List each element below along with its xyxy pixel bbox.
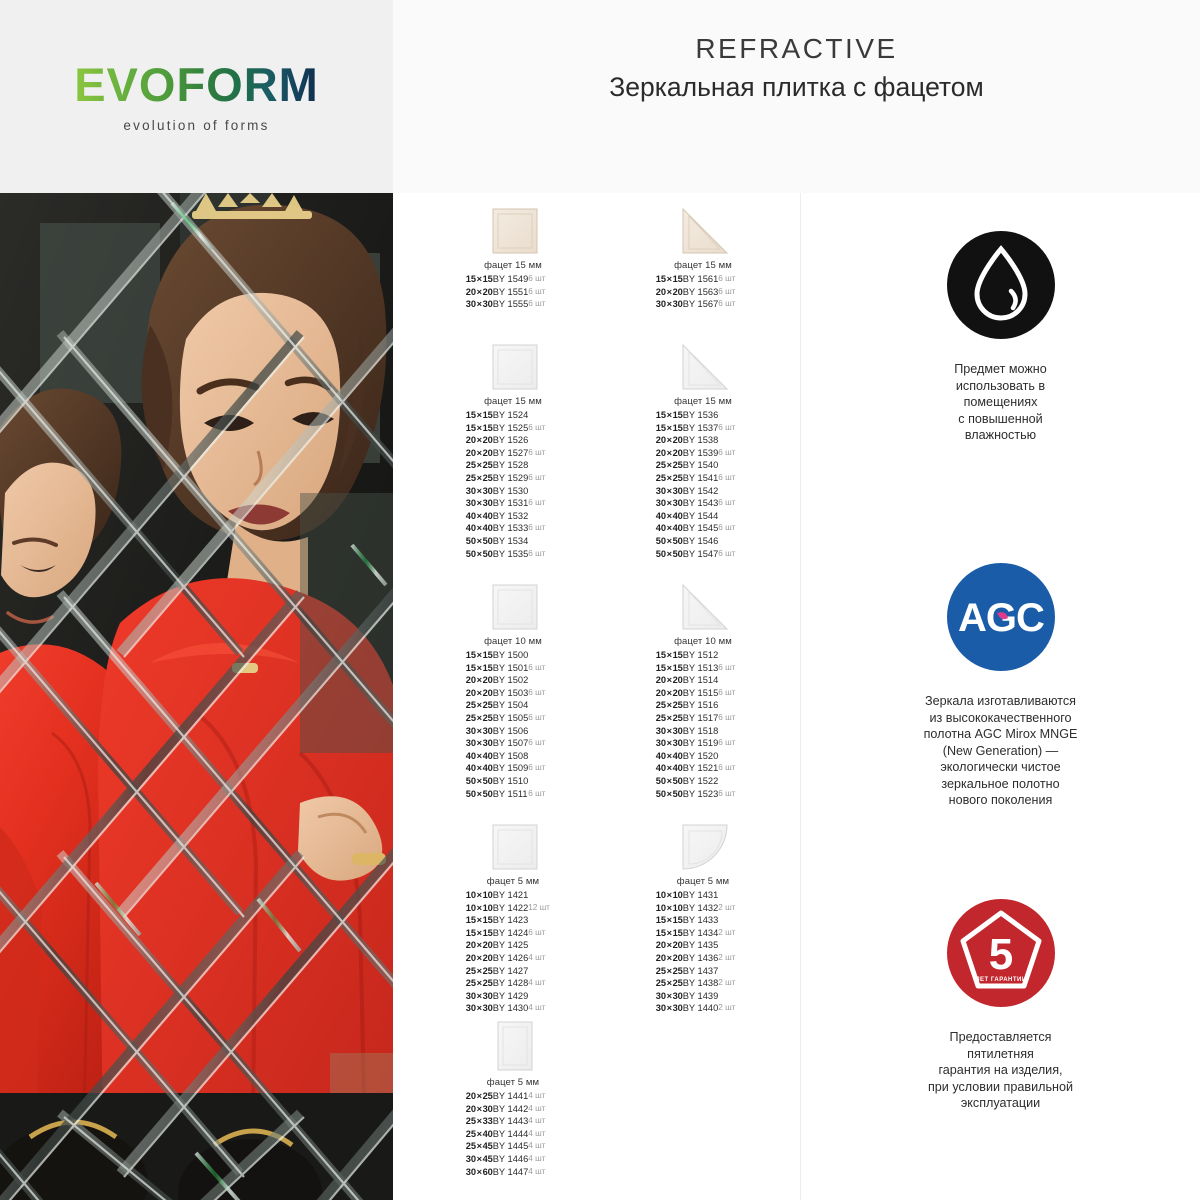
- table-row[interactable]: 25 × 25BY 15176 шт: [656, 712, 744, 725]
- table-row[interactable]: 25 × 25BY 1437: [656, 965, 744, 978]
- cell-size: 10 × 10: [466, 889, 493, 902]
- cell-code: BY 1505: [493, 712, 529, 725]
- table-row[interactable]: 30 × 30BY 1429: [466, 990, 554, 1003]
- table-row[interactable]: 30 × 30BY 1530: [466, 485, 554, 498]
- cell-code: BY 1531: [493, 497, 529, 510]
- cell-qty: 4 шт: [528, 952, 554, 965]
- product-column-beige-15mm-1: фацет 15 мм15 × 15BY 15616 шт20 × 20BY 1…: [605, 193, 795, 311]
- cell-qty: [718, 699, 744, 712]
- cell-code: BY 1428: [493, 977, 529, 990]
- cell-qty: 6 шт: [528, 522, 554, 535]
- table-row[interactable]: 20 × 20BY 1425: [466, 939, 554, 952]
- cell-code: BY 1439: [683, 990, 719, 1003]
- table-row[interactable]: 10 × 10BY 142212 шт: [466, 902, 554, 915]
- cell-size: 25 × 33: [466, 1115, 493, 1128]
- table-row[interactable]: 30 × 30BY 15076 шт: [466, 737, 554, 750]
- page-header: EVOFORM evolution of forms REFRACTIVE Зе…: [0, 0, 1200, 193]
- table-row[interactable]: 40 × 40BY 15336 шт: [466, 522, 554, 535]
- cell-qty: [718, 914, 744, 927]
- facet-label: фацет 5 мм: [415, 876, 605, 887]
- cell-qty: 6 шт: [528, 788, 554, 801]
- cell-qty: 6 шт: [528, 447, 554, 460]
- cell-qty: [528, 775, 554, 788]
- cell-qty: [718, 965, 744, 978]
- size-table: 15 × 15BY 152415 × 15BY 15256 шт20 × 20B…: [466, 409, 554, 560]
- cell-qty: 6 шт: [528, 687, 554, 700]
- cell-code: BY 1506: [493, 725, 529, 738]
- table-row[interactable]: 20 × 20BY 15396 шт: [656, 447, 744, 460]
- table-row[interactable]: 20 × 20BY 15516 шт: [466, 286, 554, 299]
- cell-code: BY 1425: [493, 939, 529, 952]
- cell-qty: 2 шт: [718, 927, 744, 940]
- cell-code: BY 1513: [683, 662, 719, 675]
- cell-size: 50 × 50: [466, 775, 493, 788]
- table-row[interactable]: 20 × 20BY 15036 шт: [466, 687, 554, 700]
- table-row[interactable]: 20 × 20BY 1435: [656, 939, 744, 952]
- table-row[interactable]: 20 × 20BY 1514: [656, 674, 744, 687]
- cell-code: BY 1551: [493, 286, 529, 299]
- cell-size: 50 × 50: [656, 548, 683, 561]
- facet-label: фацет 15 мм: [605, 396, 795, 407]
- cell-qty: 12 шт: [528, 902, 554, 915]
- table-row[interactable]: 25 × 25BY 1504: [466, 699, 554, 712]
- table-row[interactable]: 30 × 30BY 15196 шт: [656, 737, 744, 750]
- cell-qty: 2 шт: [718, 902, 744, 915]
- cell-code: BY 1508: [493, 750, 529, 763]
- table-row[interactable]: 25 × 25BY 1427: [466, 965, 554, 978]
- table-row[interactable]: 40 × 40BY 1532: [466, 510, 554, 523]
- table-row[interactable]: 15 × 15BY 15256 шт: [466, 422, 554, 435]
- cell-size: 10 × 10: [656, 902, 683, 915]
- cell-size: 20 × 20: [656, 952, 683, 965]
- cell-size: 20 × 20: [656, 939, 683, 952]
- table-row[interactable]: 50 × 50BY 15236 шт: [656, 788, 744, 801]
- table-row[interactable]: 30 × 30BY 1518: [656, 725, 744, 738]
- cell-code: BY 1500: [493, 649, 529, 662]
- cell-code: BY 1431: [683, 889, 719, 902]
- table-row[interactable]: 15 × 15BY 1512: [656, 649, 744, 662]
- table-row[interactable]: 15 × 15BY 1536: [656, 409, 744, 422]
- cell-code: BY 1532: [493, 510, 529, 523]
- rect-tile-silver: [415, 1010, 605, 1072]
- cell-code: BY 1512: [683, 649, 719, 662]
- table-row[interactable]: 25 × 33BY 14434 шт: [466, 1115, 554, 1128]
- table-row[interactable]: 10 × 10BY 1431: [656, 889, 744, 902]
- cell-code: BY 1546: [683, 535, 719, 548]
- table-row[interactable]: 40 × 40BY 15456 шт: [656, 522, 744, 535]
- table-row[interactable]: 15 × 15BY 15136 шт: [656, 662, 744, 675]
- cell-code: BY 1547: [683, 548, 719, 561]
- table-row[interactable]: 15 × 15BY 14342 шт: [656, 927, 744, 940]
- cell-qty: 6 шт: [528, 662, 554, 675]
- triangle-tile-silver: [605, 329, 795, 391]
- feature-moisture: Предмет можно использовать в помещениях …: [801, 231, 1200, 444]
- table-row[interactable]: 25 × 40BY 14444 шт: [466, 1128, 554, 1141]
- cell-size: 30 × 30: [466, 298, 493, 311]
- cell-qty: [528, 535, 554, 548]
- table-row[interactable]: 20 × 20BY 14264 шт: [466, 952, 554, 965]
- table-row[interactable]: 15 × 15BY 14246 шт: [466, 927, 554, 940]
- cell-code: BY 1445: [493, 1140, 529, 1153]
- table-row[interactable]: 50 × 50BY 1522: [656, 775, 744, 788]
- cell-size: 30 × 30: [466, 990, 493, 1003]
- size-table: 15 × 15BY 151215 × 15BY 15136 шт20 × 20B…: [656, 649, 744, 800]
- cell-size: 30 × 30: [656, 298, 683, 311]
- cell-qty: [528, 750, 554, 763]
- facet-label: фацет 10 мм: [415, 636, 605, 647]
- cell-qty: [718, 750, 744, 763]
- cell-qty: [718, 725, 744, 738]
- table-row[interactable]: 20 × 30BY 14424 шт: [466, 1103, 554, 1116]
- cell-qty: 6 шт: [528, 737, 554, 750]
- cell-qty: [718, 939, 744, 952]
- cell-code: BY 1429: [493, 990, 529, 1003]
- table-row[interactable]: 20 × 20BY 1502: [466, 674, 554, 687]
- feature-agc-text: Зеркала изготавливаются из высококачеств…: [801, 693, 1200, 809]
- cell-size: 15 × 15: [656, 649, 683, 662]
- table-row[interactable]: 30 × 30BY 15436 шт: [656, 497, 744, 510]
- cell-size: 30 × 30: [466, 497, 493, 510]
- square-tile-silver: [415, 329, 605, 391]
- cell-size: 40 × 40: [466, 750, 493, 763]
- size-table: 15 × 15BY 15496 шт20 × 20BY 15516 шт30 ×…: [466, 273, 554, 311]
- cell-qty: 6 шт: [528, 548, 554, 561]
- cell-qty: [718, 459, 744, 472]
- table-row[interactable]: 20 × 20BY 1538: [656, 434, 744, 447]
- cell-size: 20 × 20: [466, 447, 493, 460]
- cell-code: BY 1537: [683, 422, 719, 435]
- cell-size: 50 × 50: [466, 548, 493, 561]
- cell-size: 25 × 25: [656, 977, 683, 990]
- table-row[interactable]: 30 × 45BY 14464 шт: [466, 1153, 554, 1166]
- cell-qty: 6 шт: [718, 298, 744, 311]
- page-title-en: REFRACTIVE: [695, 31, 897, 66]
- facet-label: фацет 5 мм: [415, 1077, 605, 1088]
- table-row[interactable]: 10 × 10BY 14322 шт: [656, 902, 744, 915]
- cell-size: 20 × 20: [466, 687, 493, 700]
- cell-qty: [528, 459, 554, 472]
- product-column-silver-10mm-0: фацет 10 мм15 × 15BY 150015 × 15BY 15016…: [415, 569, 605, 800]
- table-row[interactable]: 50 × 50BY 15356 шт: [466, 548, 554, 561]
- cell-code: BY 1434: [683, 927, 719, 940]
- cell-code: BY 1501: [493, 662, 529, 675]
- cell-qty: [528, 939, 554, 952]
- cell-size: 30 × 30: [656, 497, 683, 510]
- cell-code: BY 1518: [683, 725, 719, 738]
- table-row[interactable]: 20 × 20BY 14362 шт: [656, 952, 744, 965]
- cell-size: 25 × 45: [466, 1140, 493, 1153]
- cell-code: BY 1526: [493, 434, 529, 447]
- cell-code: BY 1437: [683, 965, 719, 978]
- cell-qty: 6 шт: [718, 522, 744, 535]
- cell-qty: 6 шт: [718, 497, 744, 510]
- cell-size: 15 × 15: [656, 927, 683, 940]
- table-row[interactable]: 20 × 20BY 15156 шт: [656, 687, 744, 700]
- cell-size: 30 × 30: [656, 990, 683, 1003]
- cell-qty: 6 шт: [718, 273, 744, 286]
- cell-qty: [718, 510, 744, 523]
- cell-code: BY 1438: [683, 977, 719, 990]
- table-row[interactable]: 50 × 50BY 1510: [466, 775, 554, 788]
- cell-code: BY 1435: [683, 939, 719, 952]
- cell-code: BY 1509: [493, 762, 529, 775]
- cell-code: BY 1524: [493, 409, 529, 422]
- table-row[interactable]: 30 × 30BY 15676 шт: [656, 298, 744, 311]
- table-row[interactable]: 50 × 50BY 1534: [466, 535, 554, 548]
- table-row[interactable]: 30 × 30BY 1506: [466, 725, 554, 738]
- cell-code: BY 1538: [683, 434, 719, 447]
- cell-qty: 6 шт: [718, 662, 744, 675]
- cell-size: 25 × 25: [656, 712, 683, 725]
- cell-code: BY 1440: [683, 1002, 719, 1015]
- cell-size: 15 × 15: [466, 273, 493, 286]
- cell-size: 15 × 15: [466, 662, 493, 675]
- cell-code: BY 1527: [493, 447, 529, 460]
- cell-size: 25 × 25: [656, 965, 683, 978]
- cell-code: BY 1515: [683, 687, 719, 700]
- cell-code: BY 1507: [493, 737, 529, 750]
- cell-qty: 6 шт: [718, 286, 744, 299]
- cell-code: BY 1443: [493, 1115, 529, 1128]
- cell-code: BY 1535: [493, 548, 529, 561]
- product-column-silver-10mm-1: фацет 10 мм15 × 15BY 151215 × 15BY 15136…: [605, 569, 795, 800]
- cell-qty: 4 шт: [528, 1128, 554, 1141]
- cell-qty: [718, 674, 744, 687]
- cell-size: 25 × 25: [466, 699, 493, 712]
- size-table: 15 × 15BY 150015 × 15BY 15016 шт20 × 20B…: [466, 649, 554, 800]
- cell-code: BY 1561: [683, 273, 719, 286]
- cell-code: BY 1424: [493, 927, 529, 940]
- cell-qty: [528, 990, 554, 1003]
- cell-code: BY 1520: [683, 750, 719, 763]
- cell-qty: 6 шт: [528, 712, 554, 725]
- cell-size: 30 × 30: [466, 485, 493, 498]
- feature-warranty: 5 ЛЕТ ГАРАНТИИ Предоставляется пятилетня…: [801, 899, 1200, 1112]
- cell-code: BY 1503: [493, 687, 529, 700]
- table-row[interactable]: 15 × 15BY 15616 шт: [656, 273, 744, 286]
- table-row[interactable]: 50 × 50BY 1546: [656, 535, 744, 548]
- cell-size: 15 × 15: [656, 422, 683, 435]
- cell-size: 30 × 30: [656, 737, 683, 750]
- cell-qty: [718, 775, 744, 788]
- hero-photo-illustration: [0, 193, 393, 1200]
- cell-size: 20 × 20: [656, 434, 683, 447]
- table-row[interactable]: 25 × 25BY 14284 шт: [466, 977, 554, 990]
- cell-qty: 2 шт: [718, 977, 744, 990]
- cell-size: 50 × 50: [466, 788, 493, 801]
- table-row[interactable]: 30 × 30BY 15556 шт: [466, 298, 554, 311]
- cell-size: 15 × 15: [656, 273, 683, 286]
- cell-code: BY 1504: [493, 699, 529, 712]
- cell-size: 20 × 20: [656, 674, 683, 687]
- table-row[interactable]: 50 × 50BY 15476 шт: [656, 548, 744, 561]
- agc-logo-icon: AGC: [801, 563, 1200, 671]
- cell-qty: 4 шт: [528, 1115, 554, 1128]
- cell-qty: [528, 699, 554, 712]
- table-row[interactable]: 15 × 15BY 15376 шт: [656, 422, 744, 435]
- cell-code: BY 1525: [493, 422, 529, 435]
- square-tile-silver: [415, 569, 605, 631]
- cell-code: BY 1542: [683, 485, 719, 498]
- size-table: 10 × 10BY 143110 × 10BY 14322 шт15 × 15B…: [656, 889, 744, 1015]
- cell-code: BY 1522: [683, 775, 719, 788]
- cell-code: BY 1549: [493, 273, 529, 286]
- cell-size: 25 × 25: [656, 459, 683, 472]
- table-row[interactable]: 25 × 25BY 1516: [656, 699, 744, 712]
- brand-tagline: evolution of forms: [123, 118, 269, 133]
- table-row[interactable]: 15 × 15BY 1423: [466, 914, 554, 927]
- cell-code: BY 1540: [683, 459, 719, 472]
- table-row[interactable]: 15 × 15BY 15496 шт: [466, 273, 554, 286]
- table-row[interactable]: 40 × 40BY 15216 шт: [656, 762, 744, 775]
- table-row[interactable]: 40 × 40BY 1544: [656, 510, 744, 523]
- facet-label: фацет 5 мм: [605, 876, 795, 887]
- table-row[interactable]: 25 × 45BY 14454 шт: [466, 1140, 554, 1153]
- triangle-tile-beige: [605, 193, 795, 255]
- cell-size: 20 × 30: [466, 1103, 493, 1116]
- cell-qty: 6 шт: [528, 422, 554, 435]
- cell-code: BY 1427: [493, 965, 529, 978]
- table-row[interactable]: 40 × 40BY 1520: [656, 750, 744, 763]
- cell-size: 25 × 25: [656, 472, 683, 485]
- cell-code: BY 1555: [493, 298, 529, 311]
- product-column-silver-15mm-1: фацет 15 мм15 × 15BY 153615 × 15BY 15376…: [605, 329, 795, 560]
- table-row[interactable]: 15 × 15BY 1524: [466, 409, 554, 422]
- cell-qty: [528, 674, 554, 687]
- cell-code: BY 1534: [493, 535, 529, 548]
- cell-qty: 4 шт: [528, 977, 554, 990]
- table-row[interactable]: 40 × 40BY 1508: [466, 750, 554, 763]
- cell-qty: 6 шт: [718, 762, 744, 775]
- cell-qty: 2 шт: [718, 1002, 744, 1015]
- cell-qty: 4 шт: [528, 1166, 554, 1179]
- cell-qty: [718, 485, 744, 498]
- product-column-silver-5mm-0: фацет 5 мм10 × 10BY 142110 × 10BY 142212…: [415, 809, 605, 1015]
- table-row[interactable]: 25 × 25BY 1528: [466, 459, 554, 472]
- cell-code: BY 1539: [683, 447, 719, 460]
- product-column-silver-15mm-0: фацет 15 мм15 × 15BY 152415 × 15BY 15256…: [415, 329, 605, 560]
- cell-size: 20 × 20: [656, 286, 683, 299]
- facet-label: фацет 15 мм: [415, 260, 605, 271]
- cell-size: 25 × 40: [466, 1128, 493, 1141]
- facet-label: фацет 15 мм: [415, 396, 605, 407]
- cell-code: BY 1444: [493, 1128, 529, 1141]
- table-row[interactable]: 15 × 15BY 15016 шт: [466, 662, 554, 675]
- table-row[interactable]: 15 × 15BY 1500: [466, 649, 554, 662]
- cell-code: BY 1510: [493, 775, 529, 788]
- cell-size: 15 × 15: [466, 927, 493, 940]
- quarter-circle-tile-silver: [605, 809, 795, 871]
- cell-qty: 4 шт: [528, 1103, 554, 1116]
- cell-code: BY 1442: [493, 1103, 529, 1116]
- square-tile-silver: [415, 809, 605, 871]
- cell-size: 15 × 15: [656, 914, 683, 927]
- table-row[interactable]: 30 × 30BY 14402 шт: [656, 1002, 744, 1015]
- cell-size: 15 × 15: [466, 409, 493, 422]
- size-table: 15 × 15BY 153615 × 15BY 15376 шт20 × 20B…: [656, 409, 744, 560]
- table-row[interactable]: 20 × 20BY 1526: [466, 434, 554, 447]
- hero-photo: [0, 193, 393, 1200]
- cell-code: BY 1544: [683, 510, 719, 523]
- feature-moisture-text: Предмет можно использовать в помещениях …: [801, 361, 1200, 444]
- cell-qty: [528, 510, 554, 523]
- table-row[interactable]: 25 × 25BY 14382 шт: [656, 977, 744, 990]
- cell-size: 15 × 15: [466, 649, 493, 662]
- size-table: 15 × 15BY 15616 шт20 × 20BY 15636 шт30 ×…: [656, 273, 744, 311]
- svg-text:ЛЕТ ГАРАНТИИ: ЛЕТ ГАРАНТИИ: [975, 977, 1026, 983]
- cell-code: BY 1545: [683, 522, 719, 535]
- cell-qty: 4 шт: [528, 1090, 554, 1103]
- cell-qty: 6 шт: [718, 422, 744, 435]
- cell-size: 50 × 50: [466, 535, 493, 548]
- cell-code: BY 1511: [493, 788, 529, 801]
- cell-code: BY 1523: [683, 788, 719, 801]
- cell-size: 40 × 40: [466, 762, 493, 775]
- cell-size: 10 × 10: [466, 902, 493, 915]
- cell-qty: [718, 889, 744, 902]
- table-row[interactable]: 20 × 20BY 15636 шт: [656, 286, 744, 299]
- cell-qty: 6 шт: [718, 472, 744, 485]
- triangle-tile-silver: [605, 569, 795, 631]
- table-row[interactable]: 25 × 25BY 15416 шт: [656, 472, 744, 485]
- cell-size: 25 × 25: [656, 699, 683, 712]
- product-column-silver-5mm-rect-0: фацет 5 мм20 × 25BY 14414 шт20 × 30BY 14…: [415, 1010, 605, 1178]
- cell-code: BY 1514: [683, 674, 719, 687]
- cell-qty: 6 шт: [528, 472, 554, 485]
- water-drop-icon: [801, 231, 1200, 339]
- table-row[interactable]: 40 × 40BY 15096 шт: [466, 762, 554, 775]
- cell-size: 25 × 25: [466, 472, 493, 485]
- table-row[interactable]: 25 × 25BY 15056 шт: [466, 712, 554, 725]
- cell-size: 30 × 30: [656, 725, 683, 738]
- cell-size: 40 × 40: [466, 510, 493, 523]
- cell-code: BY 1422: [493, 902, 529, 915]
- cell-size: 15 × 15: [466, 422, 493, 435]
- svg-text:5: 5: [988, 930, 1012, 979]
- cell-size: 15 × 15: [656, 662, 683, 675]
- table-row[interactable]: 30 × 60BY 14474 шт: [466, 1166, 554, 1179]
- table-row[interactable]: 25 × 25BY 1540: [656, 459, 744, 472]
- cell-code: BY 1516: [683, 699, 719, 712]
- cell-qty: 2 шт: [718, 952, 744, 965]
- cell-qty: [528, 409, 554, 422]
- table-row[interactable]: 20 × 20BY 15276 шт: [466, 447, 554, 460]
- cell-qty: 6 шт: [528, 497, 554, 510]
- cell-qty: 4 шт: [528, 1140, 554, 1153]
- cell-code: BY 1541: [683, 472, 719, 485]
- cell-qty: 6 шт: [718, 548, 744, 561]
- table-row[interactable]: 30 × 30BY 1542: [656, 485, 744, 498]
- cell-code: BY 1519: [683, 737, 719, 750]
- table-row[interactable]: 10 × 10BY 1421: [466, 889, 554, 902]
- page-title-ru: Зеркальная плитка с фацетом: [609, 71, 983, 104]
- cell-size: 30 × 45: [466, 1153, 493, 1166]
- cell-code: BY 1441: [493, 1090, 529, 1103]
- table-row[interactable]: 30 × 30BY 1439: [656, 990, 744, 1003]
- cell-size: 10 × 10: [656, 889, 683, 902]
- cell-qty: [718, 990, 744, 1003]
- cell-qty: [528, 649, 554, 662]
- table-row[interactable]: 30 × 30BY 15316 шт: [466, 497, 554, 510]
- cell-size: 20 × 20: [466, 952, 493, 965]
- table-row[interactable]: 20 × 25BY 14414 шт: [466, 1090, 554, 1103]
- table-row[interactable]: 25 × 25BY 15296 шт: [466, 472, 554, 485]
- size-table: 20 × 25BY 14414 шт20 × 30BY 14424 шт25 ×…: [466, 1090, 554, 1178]
- feature-agc: AGC Зеркала изготавливаются из высококач…: [801, 563, 1200, 809]
- five-year-warranty-icon: 5 ЛЕТ ГАРАНТИИ: [801, 899, 1200, 1007]
- table-row[interactable]: 50 × 50BY 15116 шт: [466, 788, 554, 801]
- table-row[interactable]: 15 × 15BY 1433: [656, 914, 744, 927]
